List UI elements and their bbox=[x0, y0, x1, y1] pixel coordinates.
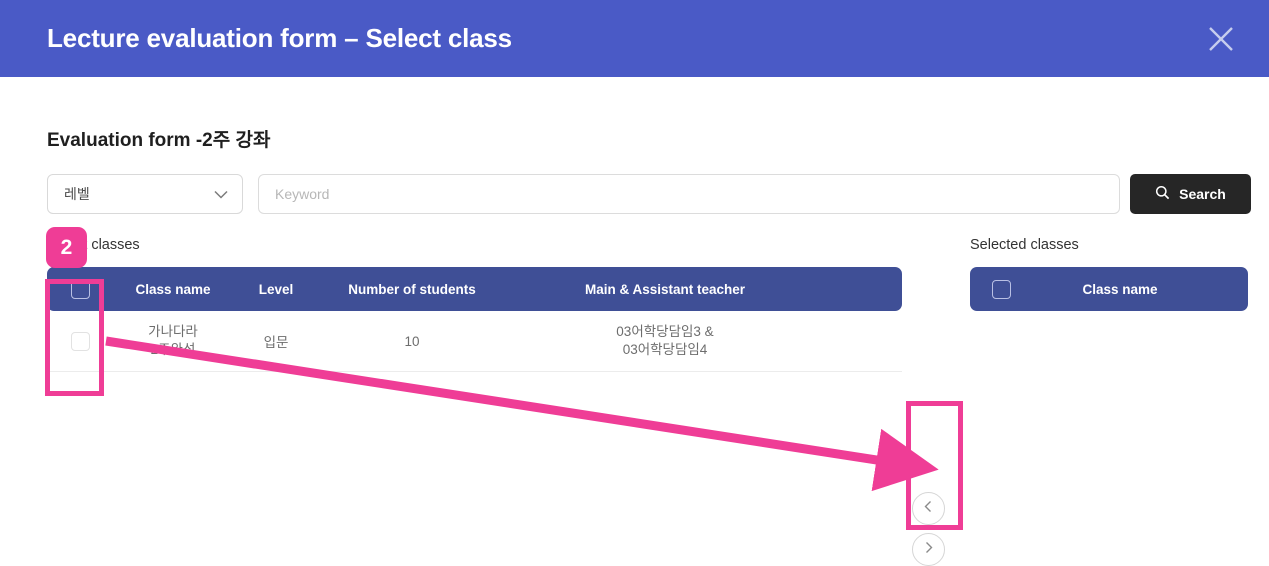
section-title: Evaluation form -2주 강좌 bbox=[47, 125, 270, 152]
search-button-label: Search bbox=[1179, 186, 1226, 202]
move-right-button[interactable] bbox=[912, 533, 945, 566]
search-classes-panel: Select classes Class name Level Number o… bbox=[47, 237, 902, 372]
selected-classes-panel: Selected classes Class name bbox=[970, 237, 1248, 311]
level-select[interactable]: 레벨 bbox=[47, 174, 243, 214]
search-icon bbox=[1155, 185, 1170, 203]
chevron-down-icon bbox=[214, 190, 228, 199]
transfer-controls bbox=[912, 492, 945, 566]
level-select-value: 레벨 bbox=[64, 184, 90, 204]
selected-select-all-checkbox-cell bbox=[970, 280, 1032, 299]
close-icon bbox=[1203, 21, 1239, 57]
row-checkbox-cell bbox=[47, 332, 113, 351]
class-name-line-1: 가나다라 bbox=[113, 323, 233, 341]
search-input[interactable] bbox=[258, 174, 1120, 214]
table-row[interactable]: 가나다라 2주완성 입문 10 03어학당담임3 & 03어학당담임4 bbox=[47, 311, 902, 372]
selected-table-header: Class name bbox=[970, 267, 1248, 311]
filter-row: 레벨 Search bbox=[47, 174, 1222, 214]
close-button[interactable] bbox=[1193, 11, 1249, 67]
cell-class-name: 가나다라 2주완성 bbox=[113, 323, 233, 359]
cell-number-of-students: 10 bbox=[319, 334, 505, 349]
selected-classes-caption: Selected classes bbox=[970, 237, 1248, 256]
teacher-line-2: 03어학당담임4 bbox=[505, 341, 825, 359]
class-name-line-2: 2주완성 bbox=[113, 341, 233, 359]
column-header-number-of-students: Number of students bbox=[319, 282, 505, 297]
row-checkbox[interactable] bbox=[71, 332, 90, 351]
search-table-header: Class name Level Number of students Main… bbox=[47, 267, 902, 311]
chevron-left-icon bbox=[923, 500, 934, 518]
chevron-right-icon bbox=[923, 541, 934, 559]
column-header-class-name: Class name bbox=[113, 282, 233, 297]
search-classes-caption: Select classes bbox=[47, 237, 902, 256]
modal-body: Evaluation form -2주 강좌 레벨 Search Select … bbox=[0, 77, 1269, 530]
move-left-button[interactable] bbox=[912, 492, 945, 525]
page-title: Lecture evaluation form – Select class bbox=[47, 23, 512, 54]
cell-teacher: 03어학당담임3 & 03어학당담임4 bbox=[505, 323, 825, 359]
modal-header: Lecture evaluation form – Select class bbox=[0, 0, 1269, 77]
selected-column-header-class-name: Class name bbox=[1032, 282, 1248, 297]
select-all-checkbox-cell bbox=[47, 280, 113, 299]
column-header-level: Level bbox=[233, 282, 319, 297]
cell-level: 입문 bbox=[233, 331, 319, 351]
search-button[interactable]: Search bbox=[1130, 174, 1251, 214]
selected-select-all-checkbox[interactable] bbox=[992, 280, 1011, 299]
column-header-teacher: Main & Assistant teacher bbox=[505, 282, 825, 297]
select-all-checkbox[interactable] bbox=[71, 280, 90, 299]
teacher-line-1: 03어학당담임3 & bbox=[505, 323, 825, 341]
